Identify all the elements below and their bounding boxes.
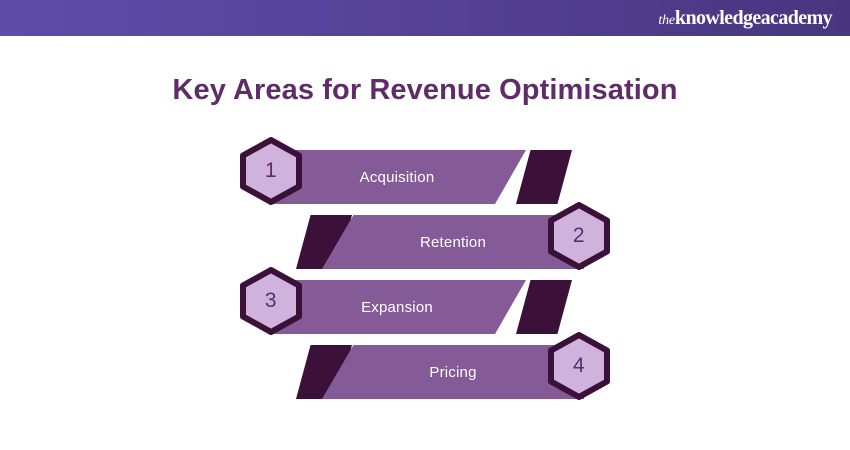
step-number-hexagon[interactable]: 1 xyxy=(237,137,305,205)
logo-word-knowledge: knowledge xyxy=(675,8,761,28)
page-title: Key Areas for Revenue Optimisation xyxy=(0,74,850,107)
brand-logo[interactable]: theknowledgeacademy xyxy=(658,8,832,28)
diagram-row[interactable]: Pricing 4 xyxy=(0,332,850,400)
step-number-hexagon[interactable]: 2 xyxy=(545,202,613,270)
step-number: 2 xyxy=(545,202,613,270)
logo-prefix: the xyxy=(658,14,675,28)
diagram-row[interactable]: Expansion 3 xyxy=(0,267,850,335)
step-number: 3 xyxy=(237,267,305,335)
step-number-hexagon[interactable]: 3 xyxy=(237,267,305,335)
page-header: theknowledgeacademy xyxy=(0,0,850,36)
item-bar xyxy=(268,150,526,204)
step-number: 4 xyxy=(545,332,613,400)
logo-word-academy: academy xyxy=(761,8,832,28)
diagram-row[interactable]: Acquisition 1 xyxy=(0,137,850,205)
revenue-optimisation-diagram: Acquisition 1 Retention 2 Expansion 3 xyxy=(0,130,850,405)
item-bar xyxy=(268,280,526,334)
step-number-hexagon[interactable]: 4 xyxy=(545,332,613,400)
step-number: 1 xyxy=(237,137,305,205)
accent-parallelogram xyxy=(516,280,572,334)
diagram-row[interactable]: Retention 2 xyxy=(0,202,850,270)
accent-parallelogram xyxy=(516,150,572,204)
